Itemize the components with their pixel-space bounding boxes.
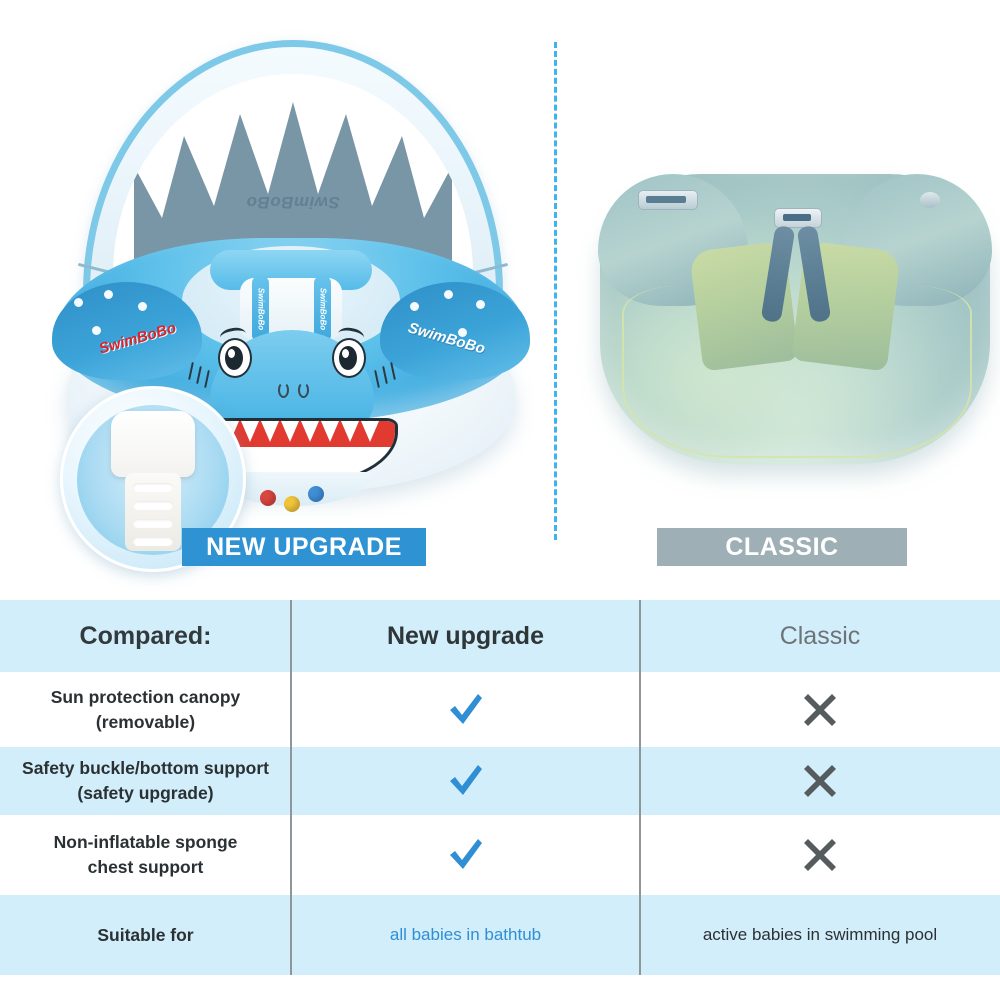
row-classic-cell bbox=[640, 815, 1000, 895]
table-row: Sun protection canopy(removable) bbox=[0, 672, 1000, 747]
rattle-ball-yellow bbox=[284, 496, 300, 512]
row-feature-cell: Safety buckle/bottom support(safety upgr… bbox=[0, 747, 291, 815]
row-feature-cell: Non-inflatable spongechest support bbox=[0, 815, 291, 895]
header-classic-label: Classic bbox=[780, 622, 861, 651]
rattle-ball-blue bbox=[308, 486, 324, 502]
check-icon bbox=[446, 761, 486, 801]
row-classic-cell bbox=[640, 747, 1000, 815]
shark-gill-l1 bbox=[188, 362, 194, 380]
shark-eye-right bbox=[332, 338, 366, 378]
classic-product-image[interactable] bbox=[600, 150, 990, 480]
row-feature-text: Non-inflatable spongechest support bbox=[54, 830, 238, 880]
shark-gill-r3 bbox=[374, 370, 380, 388]
row-feature-text: Safety buckle/bottom support(safety upgr… bbox=[22, 756, 269, 806]
row-new-cell: all babies in bathtub bbox=[291, 895, 640, 975]
new-upgrade-badge[interactable]: NEW UPGRADE bbox=[182, 528, 426, 566]
row-new-cell bbox=[291, 815, 640, 895]
shark-gill-r1 bbox=[390, 362, 396, 380]
comparison-table: Compared: New upgrade Classic Sun protec… bbox=[0, 600, 1000, 975]
row-classic-cell: active babies in swimming pool bbox=[640, 895, 1000, 975]
row-new-cell bbox=[291, 672, 640, 747]
row-new-cell bbox=[291, 747, 640, 815]
table-column-divider-1 bbox=[290, 600, 292, 975]
classic-badge-label: CLASSIC bbox=[725, 533, 838, 562]
header-cell-feature: Compared: bbox=[0, 600, 291, 672]
header-feature-label: Compared: bbox=[80, 622, 212, 651]
cross-icon bbox=[803, 838, 837, 872]
table-row: Safety buckle/bottom support(safety upgr… bbox=[0, 747, 1000, 815]
classic-badge[interactable]: CLASSIC bbox=[657, 528, 907, 566]
row-classic-text: active babies in swimming pool bbox=[703, 925, 937, 945]
inset-support-strip bbox=[125, 473, 181, 551]
row-classic-cell bbox=[640, 672, 1000, 747]
table-header-row: Compared: New upgrade Classic bbox=[0, 600, 1000, 672]
shark-gill-l3 bbox=[204, 370, 210, 388]
row-feature-text: Sun protection canopy(removable) bbox=[51, 685, 241, 735]
header-cell-classic: Classic bbox=[640, 600, 1000, 672]
check-icon bbox=[446, 690, 486, 730]
rattle-ball-red bbox=[260, 490, 276, 506]
row-feature-cell: Sun protection canopy(removable) bbox=[0, 672, 291, 747]
new-upgrade-badge-label: NEW UPGRADE bbox=[206, 533, 402, 562]
shark-gill-l2 bbox=[196, 366, 202, 384]
classic-float-body bbox=[600, 174, 990, 464]
shark-gill-r2 bbox=[382, 366, 388, 384]
product-showcase: SwimBoBo bbox=[0, 0, 1000, 600]
inset-seat-support bbox=[111, 411, 195, 477]
row-feature-cell: Suitable for bbox=[0, 895, 291, 975]
classic-valve-right bbox=[920, 192, 940, 208]
table-row: Suitable for all babies in bathtub activ… bbox=[0, 895, 1000, 975]
cross-icon bbox=[803, 693, 837, 727]
shark-nostril-right bbox=[298, 382, 309, 398]
header-new-label: New upgrade bbox=[387, 622, 544, 651]
row-new-text: all babies in bathtub bbox=[390, 925, 541, 945]
check-icon bbox=[446, 835, 486, 875]
row-feature-text: Suitable for bbox=[97, 923, 193, 948]
classic-valve-left bbox=[638, 190, 698, 210]
classic-buckle bbox=[774, 208, 822, 228]
new-upgrade-product-image[interactable]: SwimBoBo bbox=[28, 28, 538, 508]
table-column-divider-2 bbox=[639, 600, 641, 975]
table-row: Non-inflatable spongechest support bbox=[0, 815, 1000, 895]
shark-nostril-left bbox=[278, 382, 289, 398]
header-cell-new: New upgrade bbox=[291, 600, 640, 672]
cross-icon bbox=[803, 764, 837, 798]
vertical-dashed-divider bbox=[554, 42, 557, 540]
shark-eye-left bbox=[218, 338, 252, 378]
classic-body-seam bbox=[622, 286, 972, 458]
